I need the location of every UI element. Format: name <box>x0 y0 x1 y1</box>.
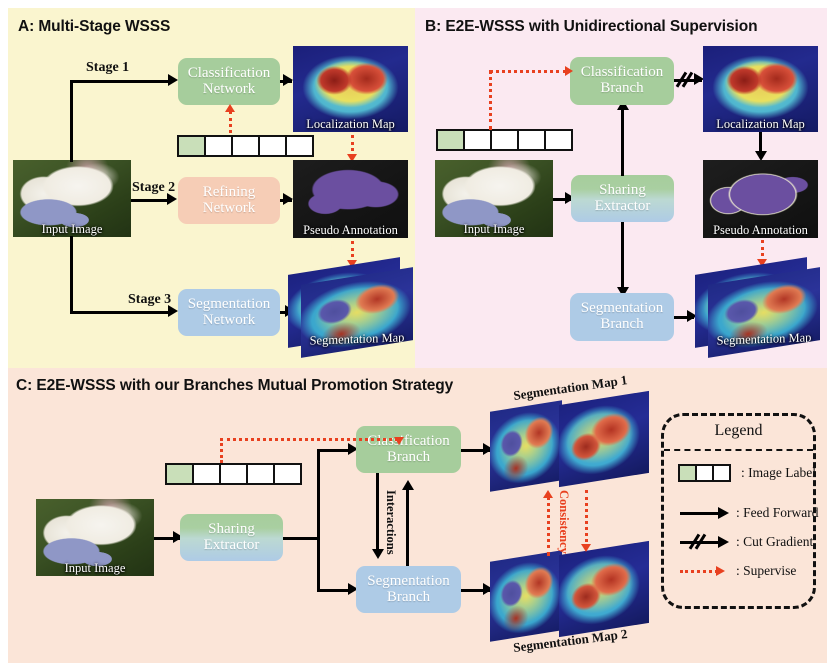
stage2-line <box>131 199 169 202</box>
legend-separator <box>664 449 813 451</box>
segmentation-map-1-left <box>490 400 562 491</box>
stage-3-label: Stage 3 <box>128 292 171 308</box>
localization-map-caption-a: Localization Map <box>293 117 408 132</box>
supervise-arrow-icon <box>680 565 730 577</box>
panel-b: B: E2E-WSSS with Unidirectional Supervis… <box>415 8 827 368</box>
legend-item-feed-forward: : Feed Forward <box>680 505 818 521</box>
label-cell-4 <box>519 131 546 149</box>
cls-to-loc-arrowhead <box>283 74 293 86</box>
pseudo-annotation-thumb-b: Pseudo Annotation <box>703 160 818 238</box>
consistency-down-line-c <box>585 490 588 548</box>
label-cell-2 <box>465 131 492 149</box>
interactions-label-c: Interactions <box>383 490 398 555</box>
interaction-down-line-c <box>376 473 379 553</box>
panel-a: A: Multi-Stage WSSS Input Image Stage 1 … <box>8 8 415 368</box>
label-cell-3 <box>492 131 519 149</box>
stage1-arrowhead <box>168 74 178 86</box>
supervise-label-arrowhead-b <box>565 66 573 76</box>
ref-to-pseudo-arrowhead <box>283 193 293 205</box>
legend-label-image-label: : Image Label <box>741 465 816 481</box>
segmentation-map-2-right <box>559 541 649 637</box>
legend-item-image-label: : Image Label <box>678 464 816 482</box>
localization-map-caption-b: Localization Map <box>703 117 818 132</box>
label-cell-1 <box>179 137 206 155</box>
classification-branch-box-c[interactable]: Classification Branch <box>356 426 461 473</box>
legend-label-cut-gradient: : Cut Gradient <box>736 534 813 550</box>
panel-c: C: E2E-WSSS with our Branches Mutual Pro… <box>8 368 827 663</box>
label-cell-5 <box>546 131 571 149</box>
consistency-label-c: Consistency <box>556 490 571 554</box>
cut-gradient-icon-b <box>676 71 694 89</box>
segmentation-network-box[interactable]: Segmentation Network <box>178 289 280 336</box>
figure-root: A: Multi-Stage WSSS Input Image Stage 1 … <box>0 0 835 671</box>
legend-box: Legend : Image Label : Feed Forward <box>661 413 816 609</box>
segmentation-map-2-left <box>490 550 562 641</box>
legend-item-cut-gradient: : Cut Gradient <box>680 534 813 550</box>
segmentation-map-caption-b: Segmentation Map <box>708 330 820 349</box>
panel-b-title: B: E2E-WSSS with Unidirectional Supervis… <box>425 18 757 36</box>
segmentation-branch-box-c[interactable]: Segmentation Branch <box>356 566 461 613</box>
bus-to-cls-line-c <box>317 449 352 452</box>
refining-network-box[interactable]: Refining Network <box>178 177 280 224</box>
input-image-thumb-c: Input Image <box>36 499 154 576</box>
sharing-to-cls-line-b <box>621 106 624 176</box>
stage3-line <box>70 311 170 314</box>
supervise-cls-arrowhead-a <box>225 104 235 112</box>
supervise-label-horiz-b <box>489 70 567 73</box>
segmentation-map-caption-a: Segmentation Map <box>301 330 413 349</box>
label-cell-1 <box>167 465 194 483</box>
stage-2-label: Stage 2 <box>132 180 175 196</box>
interaction-up-line-c <box>406 486 409 566</box>
trunk-vertical-a2 <box>70 236 73 311</box>
cut-gradient-arrow-icon <box>680 536 730 548</box>
supervise-label-vert-c <box>220 438 223 463</box>
input-image-thumb-b: Input Image <box>435 160 553 237</box>
label-cell-3 <box>221 465 248 483</box>
stage1-line <box>70 80 170 83</box>
supervise-label-vert-b <box>489 70 492 130</box>
consistency-down-arrowhead-c <box>581 544 591 552</box>
input-image-thumb-a: Input Image <box>13 160 131 237</box>
label-cell-2 <box>194 465 221 483</box>
trunk-vertical-a <box>70 80 73 162</box>
bus-to-seg-line-c <box>317 589 352 592</box>
sharing-bus-h-c <box>283 537 320 540</box>
panel-a-title: A: Multi-Stage WSSS <box>18 18 170 36</box>
legend-item-supervise: : Supervise <box>680 563 796 579</box>
input-image-caption-a: Input Image <box>13 222 131 237</box>
legend-label-feed-forward: : Feed Forward <box>736 505 818 521</box>
interaction-up-arrowhead-c <box>402 480 414 490</box>
supervise-cls-a <box>229 111 232 133</box>
legend-label-supervise: : Supervise <box>736 563 796 579</box>
label-cell-4 <box>260 137 287 155</box>
sharing-extractor-box-c[interactable]: Sharing Extractor <box>180 514 283 561</box>
supervise-label-horiz-c <box>220 438 398 441</box>
input-image-caption-c: Input Image <box>36 561 154 576</box>
label-cell-1 <box>438 131 465 149</box>
pseudo-annotation-thumb-a: Pseudo Annotation <box>293 160 408 238</box>
sharing-to-seg-line-b <box>621 222 624 292</box>
segmentation-map-1-right <box>559 391 649 487</box>
feed-forward-arrow-icon <box>680 507 730 519</box>
image-label-strip-c[interactable] <box>165 463 302 485</box>
label-cell-3 <box>233 137 260 155</box>
label-cell-2 <box>206 137 233 155</box>
consistency-up-arrowhead-c <box>543 490 553 498</box>
classification-network-box[interactable]: Classification Network <box>178 58 280 105</box>
image-label-strip-icon <box>678 464 731 482</box>
panel-c-title: C: E2E-WSSS with our Branches Mutual Pro… <box>16 377 453 395</box>
legend-title: Legend <box>664 422 813 440</box>
stage-1-label: Stage 1 <box>86 60 129 76</box>
label-cell-5 <box>287 137 312 155</box>
segmentation-branch-box-b[interactable]: Segmentation Branch <box>570 293 674 341</box>
classification-branch-box-b[interactable]: Classification Branch <box>570 57 674 105</box>
pseudo-annotation-caption-a: Pseudo Annotation <box>293 223 408 238</box>
image-label-strip-a[interactable] <box>177 135 314 157</box>
image-label-strip-b[interactable] <box>436 129 573 151</box>
localization-map-thumb-a: Localization Map <box>293 46 408 132</box>
input-image-caption-b: Input Image <box>435 222 553 237</box>
supervise-label-arrowhead-c <box>394 437 404 445</box>
sharing-bus-v-c <box>317 449 320 592</box>
consistency-up-line-c <box>547 496 550 556</box>
sharing-extractor-box-b[interactable]: Sharing Extractor <box>571 175 674 222</box>
pseudo-annotation-caption-b: Pseudo Annotation <box>703 223 818 238</box>
label-cell-5 <box>275 465 300 483</box>
localization-map-thumb-b: Localization Map <box>703 46 818 132</box>
label-cell-4 <box>248 465 275 483</box>
